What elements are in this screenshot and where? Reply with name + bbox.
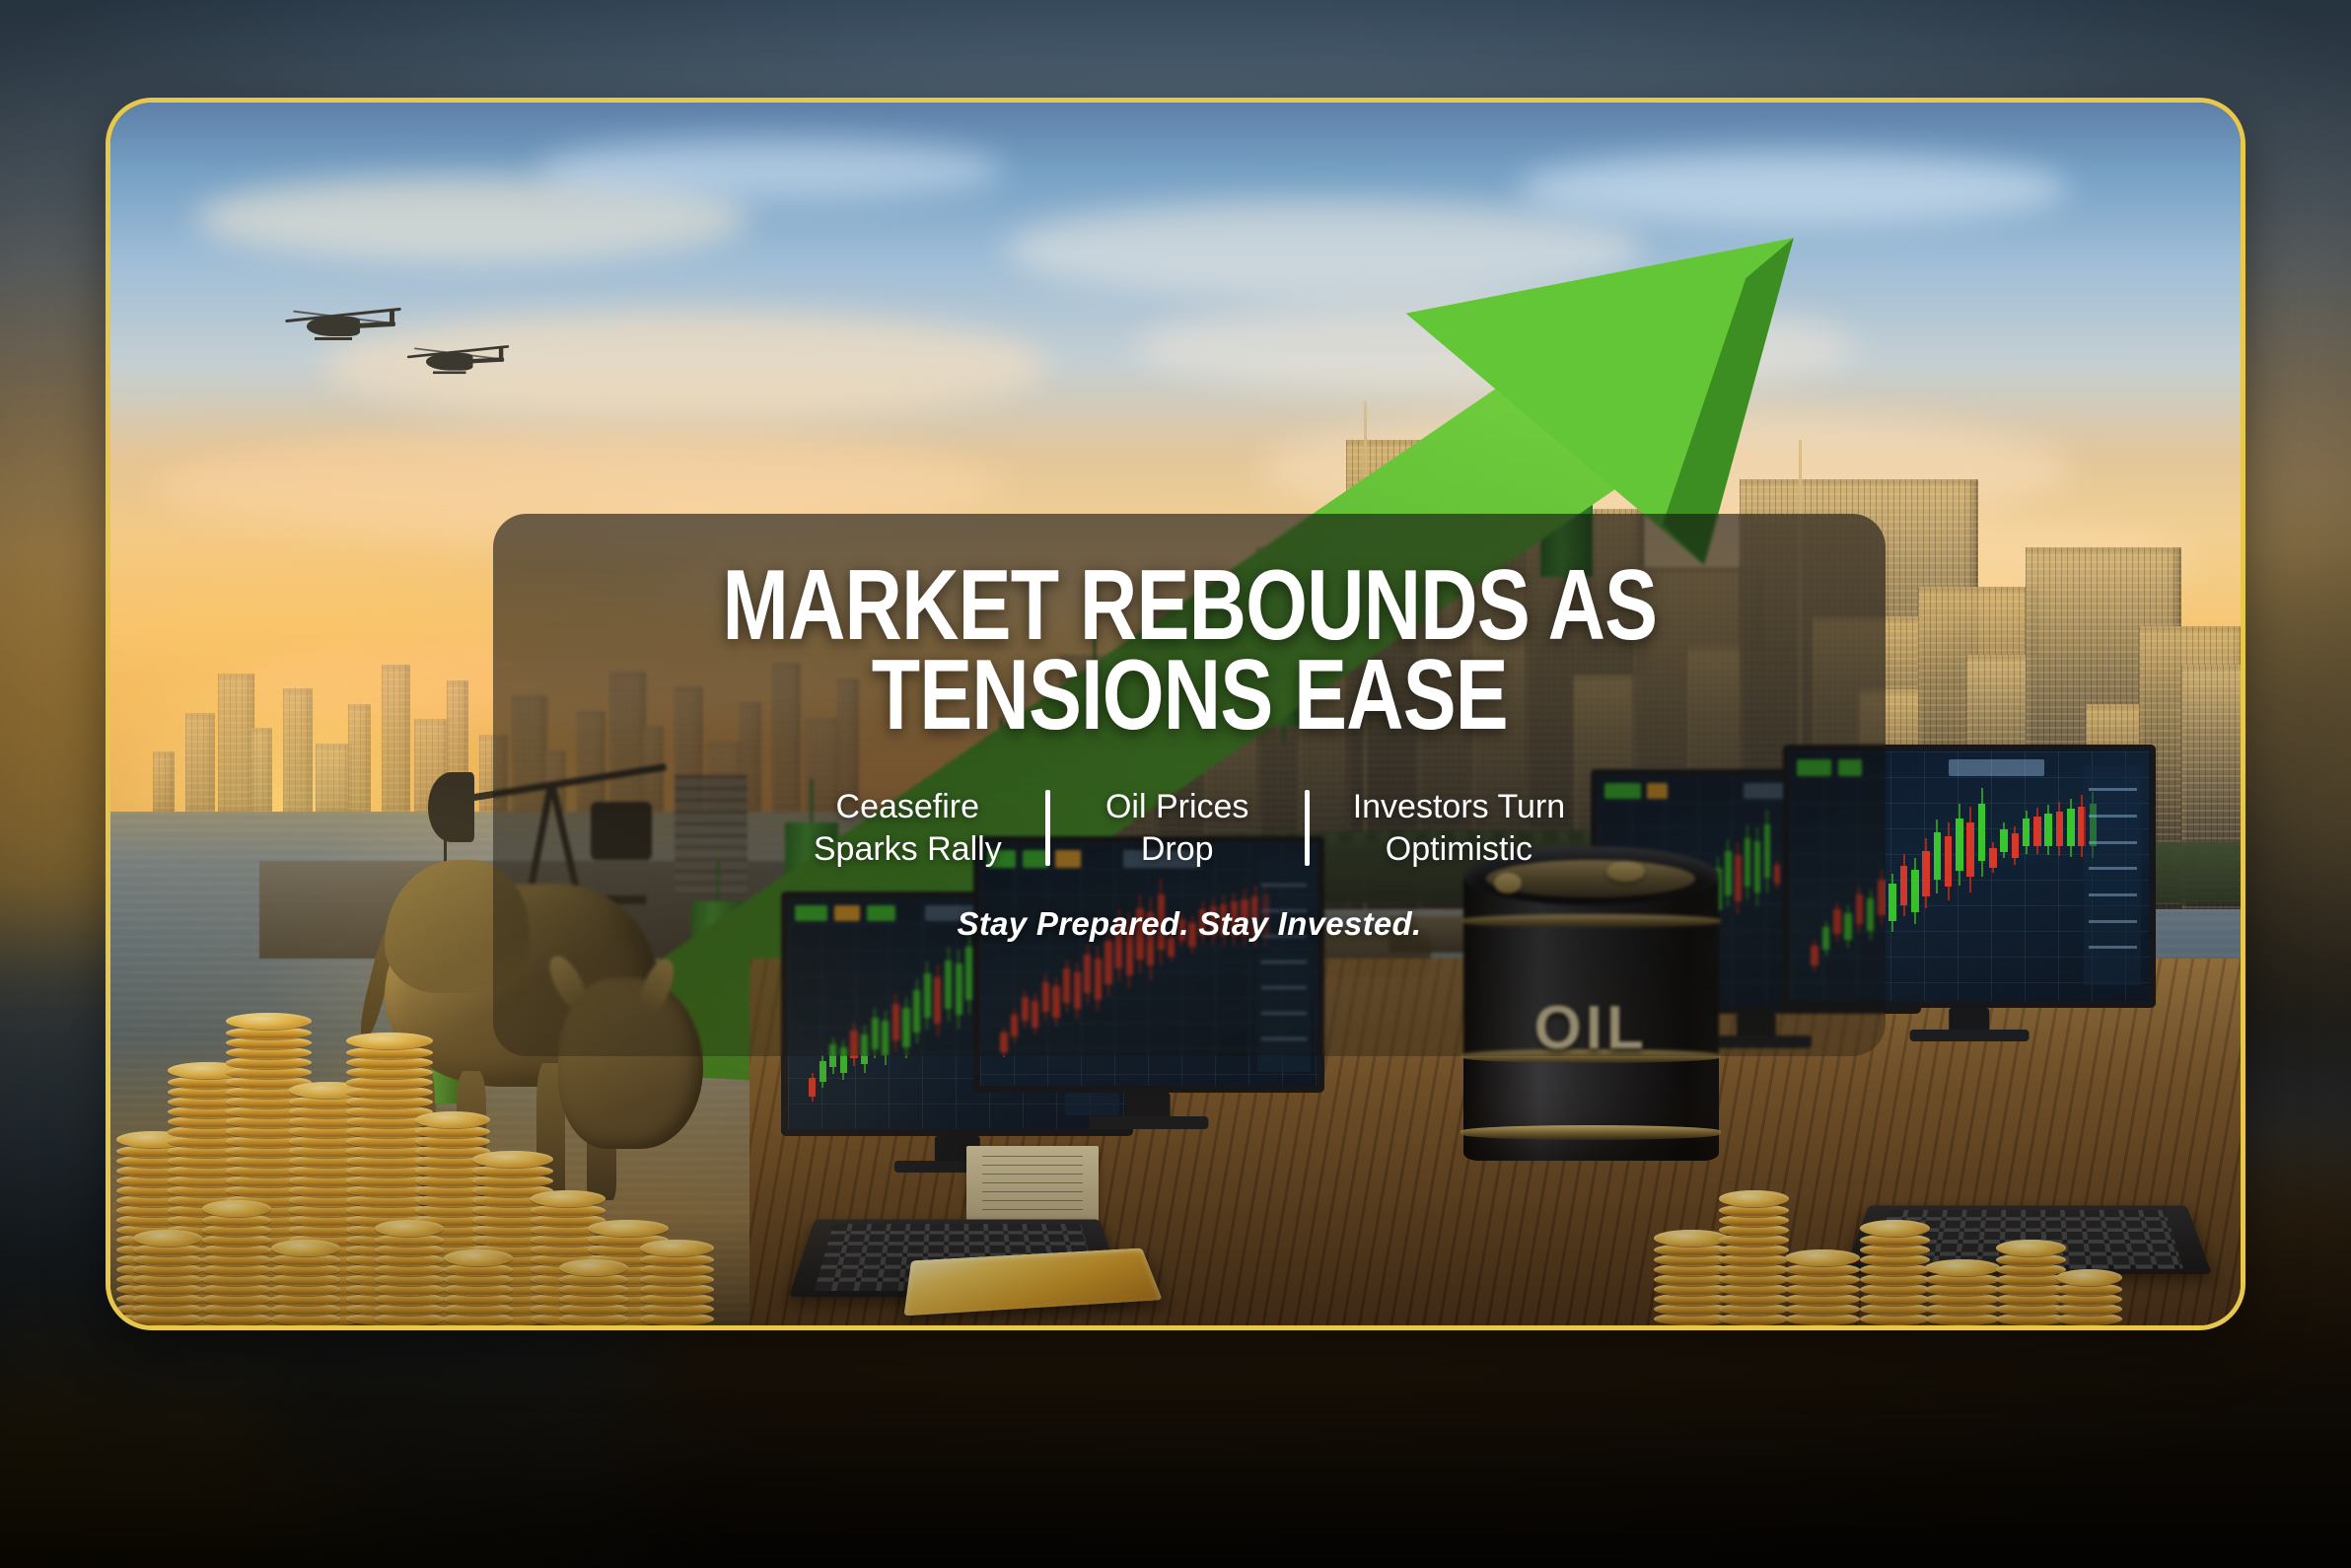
monitor-candlestick [2044, 814, 2052, 846]
coin-stack [202, 1193, 271, 1325]
monitor-candlestick [819, 1061, 826, 1082]
gold-coin [202, 1200, 271, 1217]
gold-frame: OIL MARKET REBOUNDS AS TENSIONS EASE Cea… [110, 103, 2241, 1325]
highlights-row: Ceasefire Sparks Rally Oil Prices Drop I… [770, 786, 1608, 871]
gold-coin [444, 1249, 513, 1266]
coin-stack [1654, 1223, 1729, 1325]
gold-coin [1860, 1220, 1930, 1237]
gold-coin [2056, 1269, 2122, 1286]
monitor-candlestick [2056, 812, 2064, 846]
monitor-candlestick [2033, 817, 2041, 846]
monitor-candlestick [1945, 836, 1953, 887]
monitor-candlestick [1978, 804, 1986, 861]
coin-stack [1996, 1233, 2066, 1325]
coin-stack [1925, 1252, 2000, 1325]
monitor-candlestick [2023, 819, 2030, 846]
coin-stack [444, 1243, 513, 1325]
monitor-candlestick [1966, 822, 1974, 878]
gold-coin [375, 1220, 444, 1237]
coin-stack [1719, 1183, 1789, 1325]
monitor-candlestick [1956, 819, 1963, 871]
monitor-candlestick [1989, 848, 1997, 868]
coin-stack [1860, 1213, 1930, 1325]
coin-stack [271, 1233, 340, 1325]
gold-coin [472, 1151, 553, 1168]
coin-stack [2056, 1262, 2122, 1325]
gold-coin [640, 1240, 715, 1256]
monitor-candlestick [1911, 870, 1919, 912]
hero-scene: OIL MARKET REBOUNDS AS TENSIONS EASE Cea… [110, 103, 2241, 1325]
gold-coin [346, 1033, 432, 1049]
monitor-candlestick [2000, 829, 2008, 852]
gold-coin [1719, 1190, 1789, 1207]
coin-stack [1785, 1243, 1860, 1325]
gold-coin [133, 1230, 202, 1247]
gold-coin [559, 1259, 628, 1276]
gold-coin [531, 1190, 606, 1207]
monitor-candlestick [809, 1078, 816, 1097]
gold-coin [271, 1240, 340, 1256]
coin-stack [559, 1252, 628, 1325]
highlight-investors: Investors Turn Optimistic [1310, 786, 1608, 871]
highlight-ceasefire: Ceasefire Sparks Rally [770, 786, 1045, 871]
cloud [536, 139, 1005, 200]
gold-coin [1654, 1230, 1729, 1247]
highlight-oil-prices: Oil Prices Drop [1050, 786, 1305, 871]
banner-text-block: MARKET REBOUNDS AS TENSIONS EASE Ceasefi… [493, 514, 1886, 1056]
gold-coin [1785, 1249, 1860, 1266]
coin-stack [375, 1213, 444, 1325]
monitor-candlestick [1900, 866, 1908, 905]
tagline: Stay Prepared. Stay Invested. [958, 905, 1422, 943]
page-title: MARKET REBOUNDS AS TENSIONS EASE [722, 561, 1657, 741]
gold-coin [415, 1111, 490, 1128]
gold-coin [1996, 1240, 2066, 1256]
gold-coin [1925, 1259, 2000, 1276]
coin-stack [640, 1233, 715, 1325]
monitor-candlestick [1888, 884, 1896, 921]
gold-coin [226, 1013, 312, 1030]
monitor-candlestick [1922, 851, 1930, 895]
monitor-candlestick [1934, 832, 1942, 880]
monitor-candlestick [2067, 809, 2075, 846]
monitor-candlestick [2012, 833, 2020, 858]
coin-stack [133, 1223, 202, 1325]
notepad [966, 1146, 1099, 1222]
